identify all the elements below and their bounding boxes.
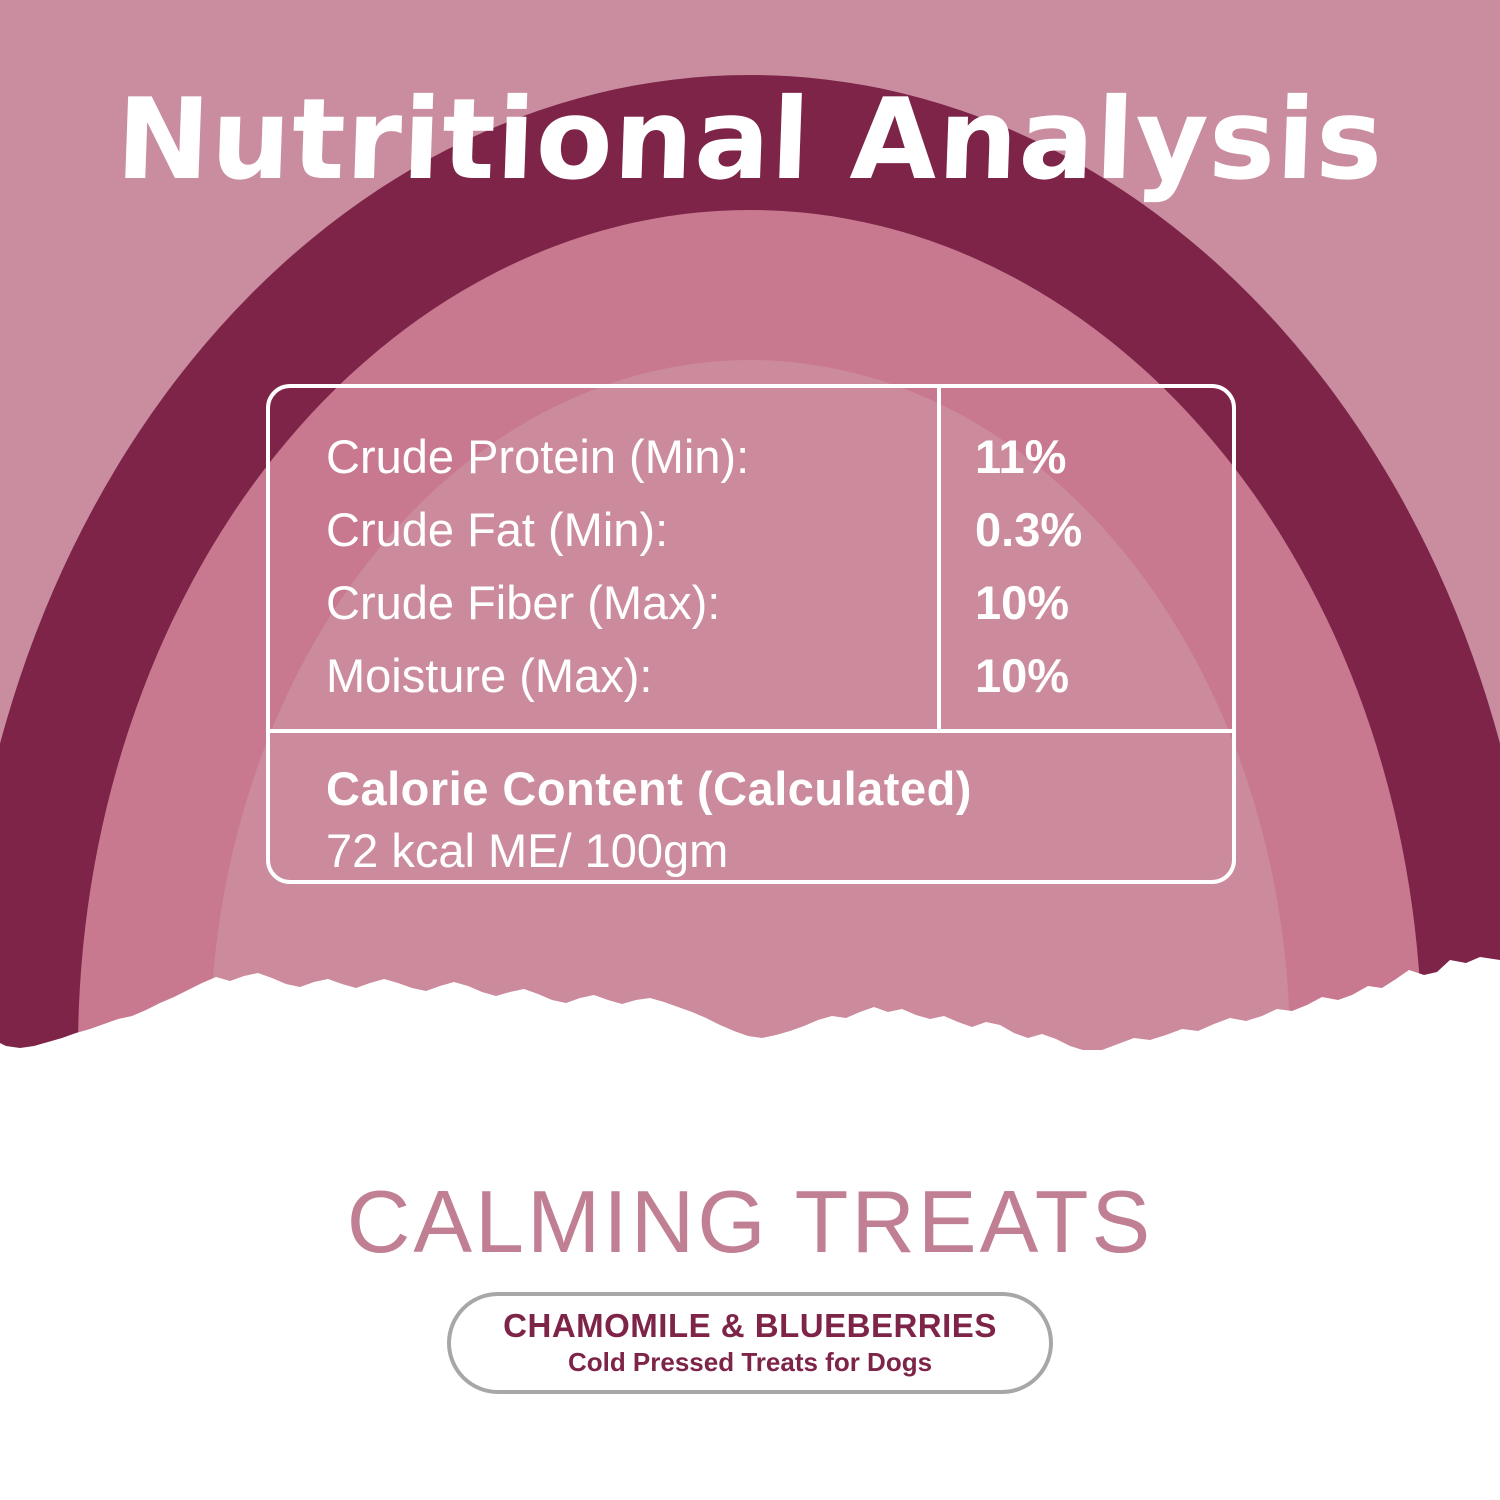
flavor-badge-tagline: Cold Pressed Treats for Dogs <box>503 1346 997 1378</box>
nutrient-value: 0.3% <box>975 493 1232 566</box>
nutrient-value: 10% <box>975 566 1232 639</box>
nutrient-label: Crude Fiber (Max): <box>326 566 937 639</box>
calorie-content-title: Calorie Content (Calculated) <box>326 758 1232 820</box>
calorie-content-section: Calorie Content (Calculated) 72 kcal ME/… <box>270 733 1232 880</box>
poster-canvas: Nutritional Analysis Crude Protein (Min)… <box>0 0 1500 1500</box>
nutrient-value: 10% <box>975 639 1232 712</box>
calorie-content-value: 72 kcal ME/ 100gm <box>326 820 1232 882</box>
nutrient-label: Moisture (Max): <box>326 639 937 712</box>
nutrition-table: Crude Protein (Min): Crude Fat (Min): Cr… <box>270 388 1232 729</box>
footer: CALMING TREATS CHAMOMILE & BLUEBERRIES C… <box>0 1170 1500 1394</box>
flavor-badge-title: CHAMOMILE & BLUEBERRIES <box>503 1306 997 1346</box>
nutrient-value: 11% <box>975 420 1232 493</box>
nutrient-values-column: 11% 0.3% 10% 10% <box>941 388 1232 729</box>
flavor-badge: CHAMOMILE & BLUEBERRIES Cold Pressed Tre… <box>447 1292 1053 1394</box>
nutrient-labels-column: Crude Protein (Min): Crude Fat (Min): Cr… <box>270 388 941 729</box>
nutrient-label: Crude Fat (Min): <box>326 493 937 566</box>
page-title: Nutritional Analysis <box>0 82 1500 200</box>
nutrition-analysis-box: Crude Protein (Min): Crude Fat (Min): Cr… <box>266 384 1236 884</box>
product-name: CALMING TREATS <box>0 1170 1500 1274</box>
nutrient-label: Crude Protein (Min): <box>326 420 937 493</box>
